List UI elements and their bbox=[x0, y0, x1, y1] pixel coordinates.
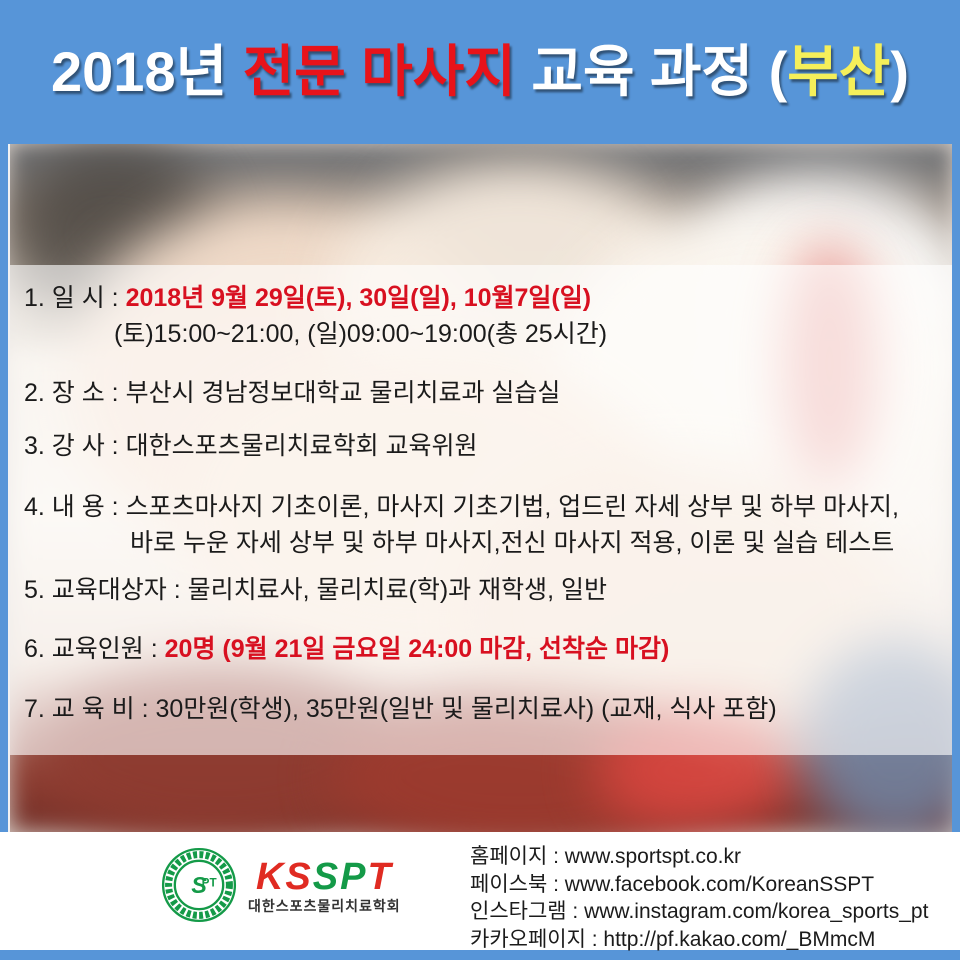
brand-wordmark: KSSPT 대한스포츠물리치료학회 bbox=[248, 858, 401, 913]
info-item-schedule-value: 2018년 9월 29일(토), 30일(일), 10월7일(일) bbox=[126, 284, 591, 312]
info-item-fee-value: 30만원(학생), 35만원(일반 및 물리치료사) (교재, 식사 포함) bbox=[156, 695, 777, 723]
contact-line-kakao[interactable]: 카카오페이지 : http://pf.kakao.com/_BMmcM bbox=[470, 927, 928, 954]
info-item-curriculum: 4. 내 용 : 스포츠마사지 기초이론, 마사지 기초기법, 업드린 자세 상… bbox=[24, 493, 899, 558]
title-segment-highlight: 전문 마사지 bbox=[243, 40, 516, 103]
footer: S PT KSSPT 대한스포츠물리치료학회 홈페이지 : www.sports… bbox=[0, 832, 960, 950]
info-item-location-label: 2. 장 소 : bbox=[24, 379, 126, 407]
brand-acronym-letter-2: S bbox=[285, 856, 312, 898]
brand-full-name: 대한스포츠물리치료학회 bbox=[248, 899, 401, 913]
brand-acronym-letter-3: S bbox=[313, 856, 340, 898]
info-item-instructor: 3. 강 사 : 대한스포츠물리치료학회 교육위원 bbox=[24, 432, 478, 462]
info-item-curriculum-sub: 바로 누운 자세 상부 및 하부 마사지,전신 마사지 적용, 이론 및 실습 … bbox=[24, 529, 899, 559]
info-item-schedule: 1. 일 시 : 2018년 9월 29일(토), 30일(일), 10월7일(… bbox=[24, 284, 607, 349]
contact-line-instagram[interactable]: 인스타그램 : www.instagram.com/korea_sports_p… bbox=[470, 899, 928, 926]
contact-line-homepage[interactable]: 홈페이지 : www.sportspt.co.kr bbox=[470, 844, 928, 871]
info-item-schedule-label: 1. 일 시 : bbox=[24, 284, 126, 312]
info-item-instructor-label: 3. 강 사 : bbox=[24, 432, 126, 460]
brand-acronym-letter-1: K bbox=[256, 856, 285, 898]
info-item-schedule-sub: (토)15:00~21:00, (일)09:00~19:00(총 25시간) bbox=[24, 320, 607, 350]
info-item-location-value: 부산시 경남정보대학교 물리치료과 실습실 bbox=[126, 379, 561, 407]
title-bar: 2018년 전문 마사지 교육 과정 (부산) bbox=[0, 0, 960, 144]
info-item-audience: 5. 교육대상자 : 물리치료사, 물리치료(학)과 재학생, 일반 bbox=[24, 576, 607, 606]
info-item-capacity-label: 6. 교육인원 : bbox=[24, 635, 165, 663]
page-title: 2018년 전문 마사지 교육 과정 (부산) bbox=[51, 44, 909, 100]
brand-logo: S PT KSSPT 대한스포츠물리치료학회 bbox=[160, 846, 401, 924]
info-item-location: 2. 장 소 : 부산시 경남정보대학교 물리치료과 실습실 bbox=[24, 379, 560, 409]
title-segment-city: 부산 bbox=[787, 40, 890, 103]
brand-acronym: KSSPT bbox=[256, 858, 393, 896]
info-list: 1. 일 시 : 2018년 9월 29일(토), 30일(일), 10월7일(… bbox=[8, 144, 952, 832]
title-segment-year: 2018년 bbox=[51, 40, 243, 103]
title-segment-mid: 교육 과정 ( bbox=[516, 40, 787, 103]
info-item-capacity-value: 20명 (9월 21일 금요일 24:00 마감, 선착순 마감) bbox=[165, 635, 670, 663]
brand-acronym-letter-4: P bbox=[340, 856, 367, 898]
contact-info: 홈페이지 : www.sportspt.co.kr 페이스북 : www.fac… bbox=[470, 844, 928, 954]
info-item-audience-label: 5. 교육대상자 : bbox=[24, 576, 188, 604]
info-item-curriculum-label: 4. 내 용 : bbox=[24, 493, 126, 521]
title-segment-close: ) bbox=[890, 40, 909, 103]
brand-acronym-letter-5: T bbox=[368, 856, 393, 898]
svg-text:PT: PT bbox=[202, 877, 218, 890]
info-item-fee-label: 7. 교 육 비 : bbox=[24, 695, 156, 723]
info-item-audience-value: 물리치료사, 물리치료(학)과 재학생, 일반 bbox=[188, 576, 607, 604]
ksspt-emblem-icon: S PT bbox=[160, 846, 238, 924]
info-item-fee: 7. 교 육 비 : 30만원(학생), 35만원(일반 및 물리치료사) (교… bbox=[24, 695, 777, 725]
contact-line-facebook[interactable]: 페이스북 : www.facebook.com/KoreanSSPT bbox=[470, 872, 928, 899]
info-item-instructor-value: 대한스포츠물리치료학회 교육위원 bbox=[126, 432, 478, 460]
info-item-curriculum-value: 스포츠마사지 기초이론, 마사지 기초기법, 업드린 자세 상부 및 하부 마사… bbox=[126, 493, 899, 521]
info-item-capacity: 6. 교육인원 : 20명 (9월 21일 금요일 24:00 마감, 선착순 … bbox=[24, 635, 669, 665]
poster-root: 2018년 전문 마사지 교육 과정 (부산) 1. 일 시 : 2018년 9… bbox=[0, 0, 960, 960]
